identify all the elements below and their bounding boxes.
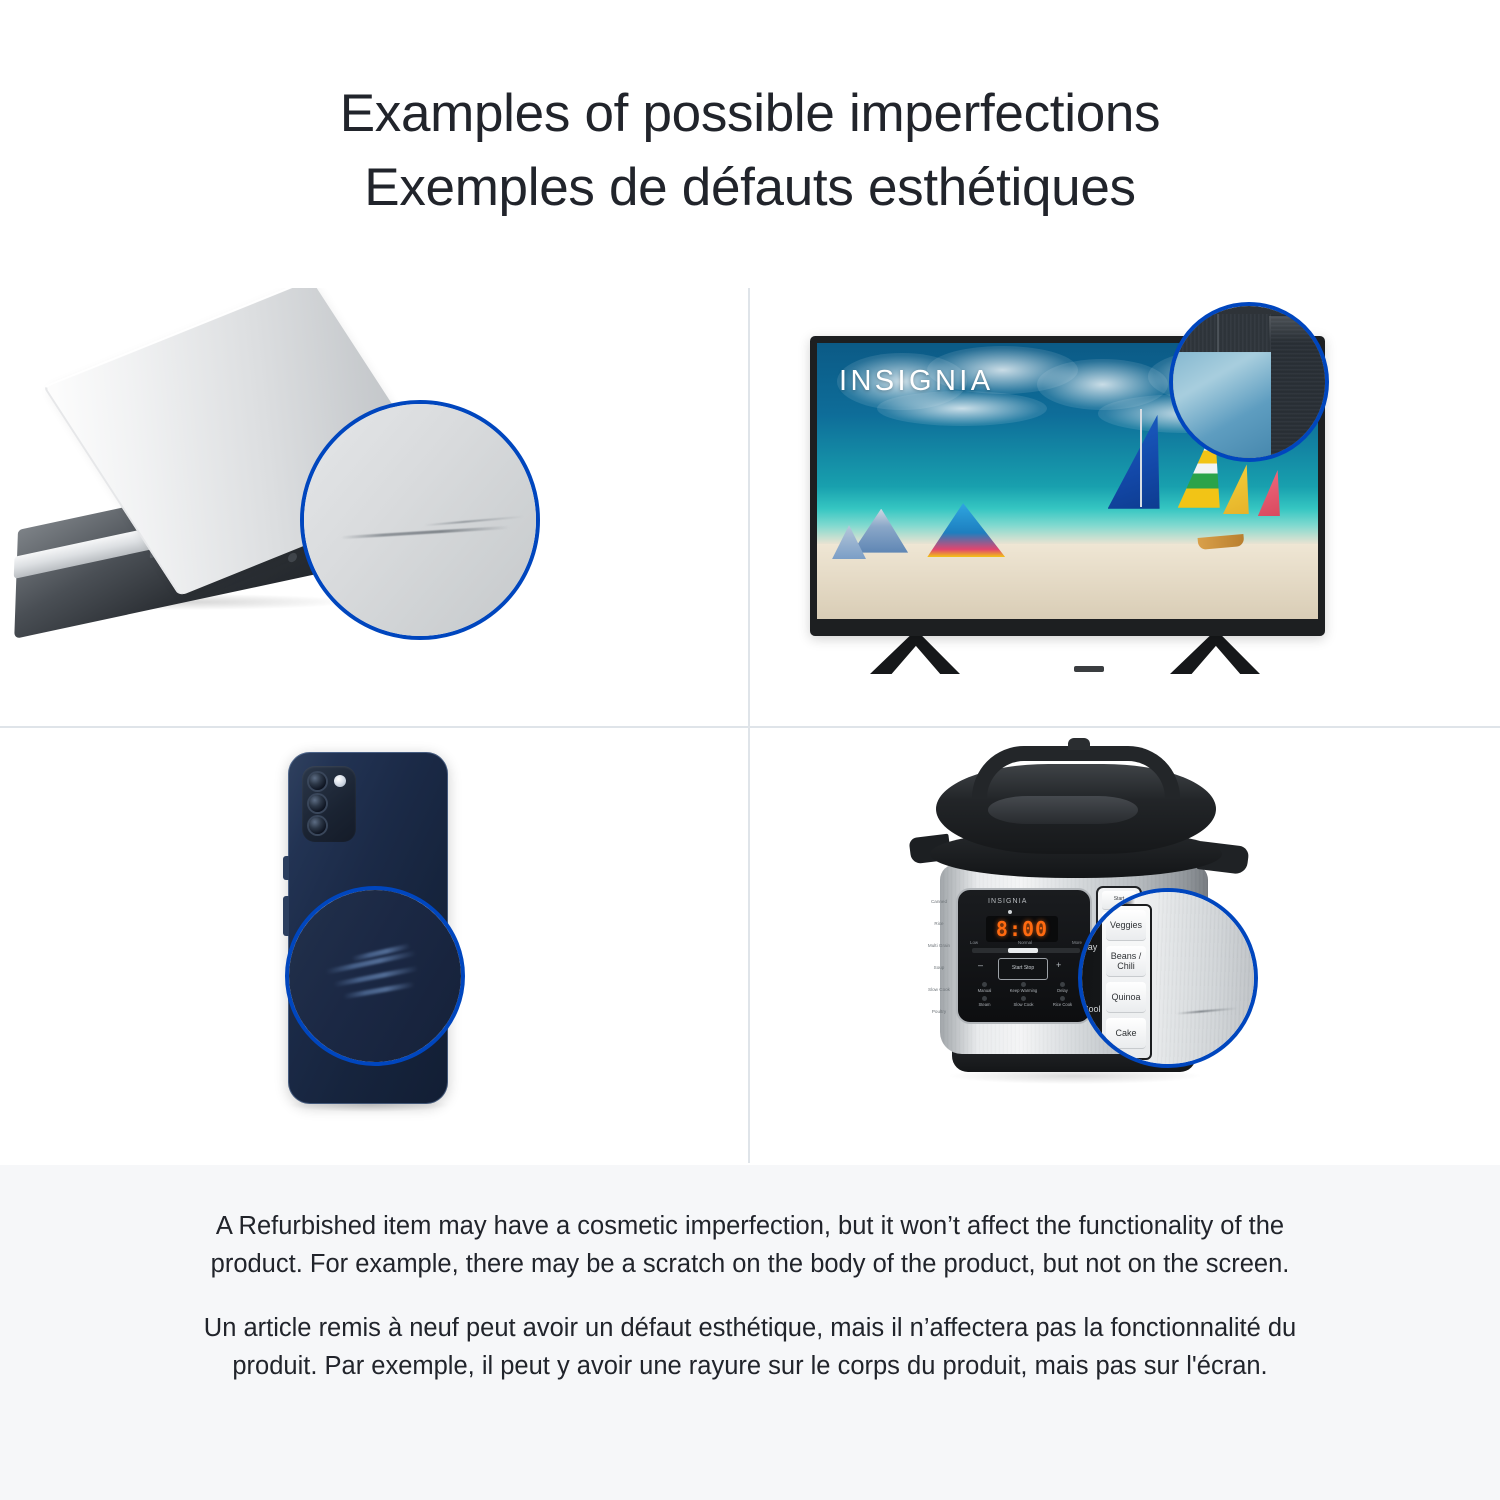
- cooker-minus-icon[interactable]: –: [978, 960, 983, 970]
- tv-sailboat-mast: [1140, 409, 1142, 507]
- page-title-french: Exemples de défauts esthétiques: [364, 151, 1135, 225]
- cooker-control-panel[interactable]: INSIGNIA 8:00 Low Normal More – Start St…: [956, 888, 1092, 1024]
- cooker-pressure-knob: [1068, 738, 1090, 750]
- cell-laptop: [0, 288, 748, 726]
- cooker-brand-logo: INSIGNIA: [988, 898, 1028, 905]
- cooker-left-label-column: Canned Rice Multi Grain Soup Slow Cook P…: [924, 890, 954, 1022]
- disclaimer-paragraph-english: A Refurbished item may have a cosmetic i…: [190, 1207, 1310, 1283]
- cooker-left-label: Poultry: [924, 1009, 954, 1014]
- cooker-lid-handle: [972, 746, 1180, 798]
- cooker-indicator-light: [1008, 910, 1012, 914]
- tv-screen-beach: [817, 544, 1318, 619]
- tv-zoom-corner-highlight: [1269, 316, 1327, 342]
- page-title-english: Examples of possible imperfections: [340, 77, 1161, 151]
- camera-flash-icon: [334, 775, 346, 787]
- pressure-cooker-illustration: Canned Rice Multi Grain Soup Slow Cook P…: [910, 738, 1330, 1158]
- camera-lens-icon: [309, 795, 326, 812]
- scale-label-low: Low: [970, 940, 978, 945]
- tv-stand-left: [870, 636, 960, 674]
- cell-pressure-cooker: Canned Rice Multi Grain Soup Slow Cook P…: [750, 728, 1498, 1166]
- smartphone-illustration: [230, 746, 530, 1146]
- phone-volume-button: [283, 856, 289, 880]
- tv-zoom-bezel-seam: [1217, 314, 1219, 352]
- cooker-left-label: Multi Grain: [924, 943, 954, 948]
- cooker-timer-display: 8:00: [986, 916, 1058, 942]
- cooker-pressure-scale-labels: Low Normal More: [970, 940, 1082, 945]
- cooker-keypad[interactable]: Manual Keep Warming Delay Steam Slow Coo…: [968, 982, 1084, 1007]
- laptop-zoom-surface: [304, 404, 536, 636]
- cooker-zoom-button: Cake: [1106, 1018, 1146, 1049]
- disclaimer-paragraph-french: Un article remis à neuf peut avoir un dé…: [190, 1309, 1310, 1385]
- phone-camera-module: [302, 766, 356, 842]
- cooker-left-label: Rice: [924, 921, 954, 926]
- cooker-zoom-brushed-metal: [1156, 892, 1258, 1068]
- scale-label-more: More: [1072, 940, 1082, 945]
- tv-zoom-screen-area: [1169, 350, 1275, 462]
- cooker-defect-callout-circle: elay w Cook Veggies Beans / Chili Quinoa…: [1078, 888, 1258, 1068]
- cooker-lid-vent-panel: [988, 796, 1138, 824]
- cooker-keypad-button[interactable]: Rice Cook: [1046, 996, 1079, 1007]
- tv-logo-badge: [1074, 666, 1104, 672]
- refurbished-imperfections-infographic: Examples of possible imperfections Exemp…: [0, 0, 1500, 1500]
- cooker-pressure-bar: [972, 948, 1080, 953]
- cooker-left-label: Slow Cook: [924, 987, 954, 992]
- product-examples-grid: INSIGNIA: [0, 288, 1500, 1163]
- tv-stand-right: [1170, 636, 1260, 674]
- camera-lens-icon: [309, 773, 326, 790]
- phone-defect-callout-circle: [285, 886, 465, 1066]
- camera-lens-icon: [309, 817, 326, 834]
- laptop-defect-callout-circle: [300, 400, 540, 640]
- cooker-zoom-button: Veggies: [1106, 910, 1146, 941]
- cell-smartphone: [0, 728, 748, 1166]
- cooker-zoom-button: Beans / Chili: [1106, 946, 1146, 977]
- cooker-keypad-button[interactable]: Delay: [1046, 982, 1079, 993]
- cooker-start-stop-button[interactable]: Start Stop: [998, 958, 1048, 980]
- cooker-keypad-button[interactable]: Steam: [968, 996, 1001, 1007]
- cooker-zoom-button: Quinoa: [1106, 982, 1146, 1013]
- laptop-illustration: [10, 306, 510, 706]
- page-header: Examples of possible imperfections Exemp…: [0, 0, 1500, 288]
- cooker-plus-icon[interactable]: +: [1056, 960, 1061, 970]
- cooker-keypad-button[interactable]: Manual: [968, 982, 1001, 993]
- cooker-keypad-button[interactable]: Slow Cook: [1007, 996, 1040, 1007]
- cooker-left-label: Canned: [924, 899, 954, 904]
- tv-defect-callout-circle: [1169, 302, 1329, 462]
- disclaimer-footer: A Refurbished item may have a cosmetic i…: [0, 1165, 1500, 1500]
- tv-beach-tent-blue: [852, 509, 908, 553]
- cooker-left-label: Soup: [924, 965, 954, 970]
- tv-beach-tent-cyan: [927, 503, 1005, 557]
- cooker-keypad-button[interactable]: Keep Warming: [1007, 982, 1040, 993]
- scale-label-normal: Normal: [1018, 940, 1032, 945]
- tv-brand-logo: INSIGNIA: [839, 365, 994, 398]
- cell-television: INSIGNIA: [750, 288, 1498, 726]
- television-illustration: INSIGNIA: [790, 300, 1470, 720]
- cooker-zoom-button-strip: Veggies Beans / Chili Quinoa Cake: [1100, 904, 1152, 1060]
